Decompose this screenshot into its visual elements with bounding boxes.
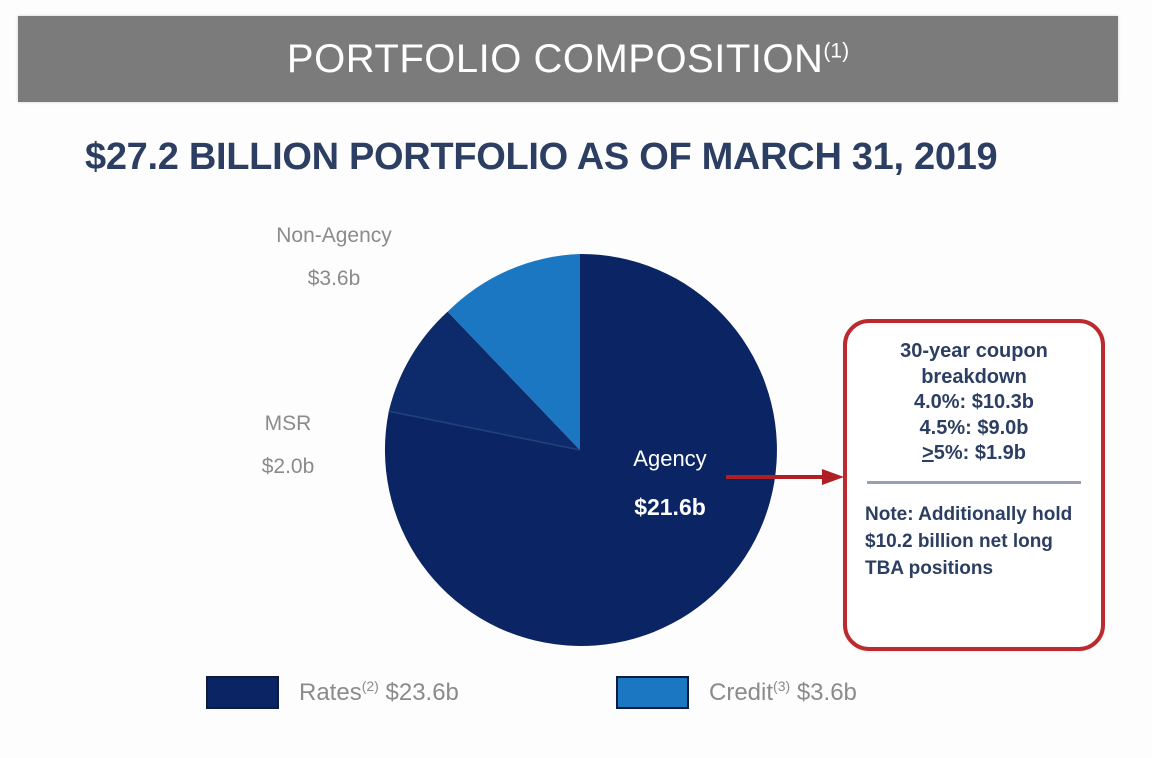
coupon-row-gt5: >5%: $1.9b	[861, 441, 1087, 467]
callout-box: 30-year coupon breakdown 4.0%: $10.3b 4.…	[843, 319, 1105, 651]
callout-note-line-1: Note: Additionally hold	[865, 504, 1072, 525]
chart-legend: Rates(2) $23.6b Credit(3) $3.6b	[0, 672, 1152, 722]
legend-label-credit-text: Credit	[709, 679, 773, 706]
legend-swatch-credit	[616, 676, 689, 709]
legend-item-rates[interactable]: Rates(2) $23.6b	[206, 672, 459, 712]
callout-divider	[867, 481, 1081, 484]
page-title-superscript: (1)	[823, 39, 849, 62]
page-title-text: PORTFOLIO COMPOSITION	[287, 37, 823, 81]
pie-label-non-agency: Non-Agency $3.6b	[234, 225, 434, 289]
callout-note-line-2: $10.2 billion net long	[865, 531, 1053, 552]
coupon-row-40: 4.0%: $10.3b	[861, 390, 1087, 416]
legend-label-rates-text: Rates	[299, 679, 362, 706]
coupon-row-gt5-text: 5%: $1.9b	[934, 442, 1026, 464]
legend-label-rates: Rates(2) $23.6b	[299, 678, 459, 707]
legend-item-credit[interactable]: Credit(3) $3.6b	[616, 672, 857, 712]
greater-equal-symbol: >	[922, 442, 934, 464]
header-band: PORTFOLIO COMPOSITION(1)	[18, 16, 1118, 102]
callout-note-line-3: TBA positions	[865, 558, 993, 579]
pie-label-agency-name: Agency	[633, 446, 706, 471]
legend-label-credit: Credit(3) $3.6b	[709, 678, 857, 707]
page-title: PORTFOLIO COMPOSITION(1)	[287, 37, 849, 82]
coupon-heading-line-1: 30-year coupon	[861, 339, 1087, 365]
coupon-row-45: 4.5%: $9.0b	[861, 416, 1087, 442]
chart-area: Non-Agency $3.6b MSR $2.0b Agency $21.6b…	[0, 195, 1152, 695]
legend-label-credit-superscript: (3)	[773, 678, 790, 694]
pie-label-msr: MSR $2.0b	[208, 413, 368, 477]
pie-label-non-agency-name: Non-Agency	[276, 224, 392, 247]
legend-value-rates: $23.6b	[386, 679, 459, 706]
callout-note: Note: Additionally hold $10.2 billion ne…	[861, 502, 1087, 583]
pie-label-msr-value: $2.0b	[208, 456, 368, 477]
legend-label-rates-superscript: (2)	[362, 678, 379, 694]
callout-arrow-icon	[726, 467, 844, 487]
legend-value-credit: $3.6b	[797, 679, 857, 706]
pie-label-msr-name: MSR	[265, 412, 312, 435]
coupon-heading-line-2: breakdown	[861, 365, 1087, 391]
pie-label-agency-value: $21.6b	[580, 496, 760, 519]
coupon-breakdown-block: 30-year coupon breakdown 4.0%: $10.3b 4.…	[861, 339, 1087, 467]
legend-swatch-rates	[206, 676, 279, 709]
subtitle: $27.2 BILLION PORTFOLIO AS OF MARCH 31, …	[85, 136, 1075, 179]
pie-label-non-agency-value: $3.6b	[234, 268, 434, 289]
